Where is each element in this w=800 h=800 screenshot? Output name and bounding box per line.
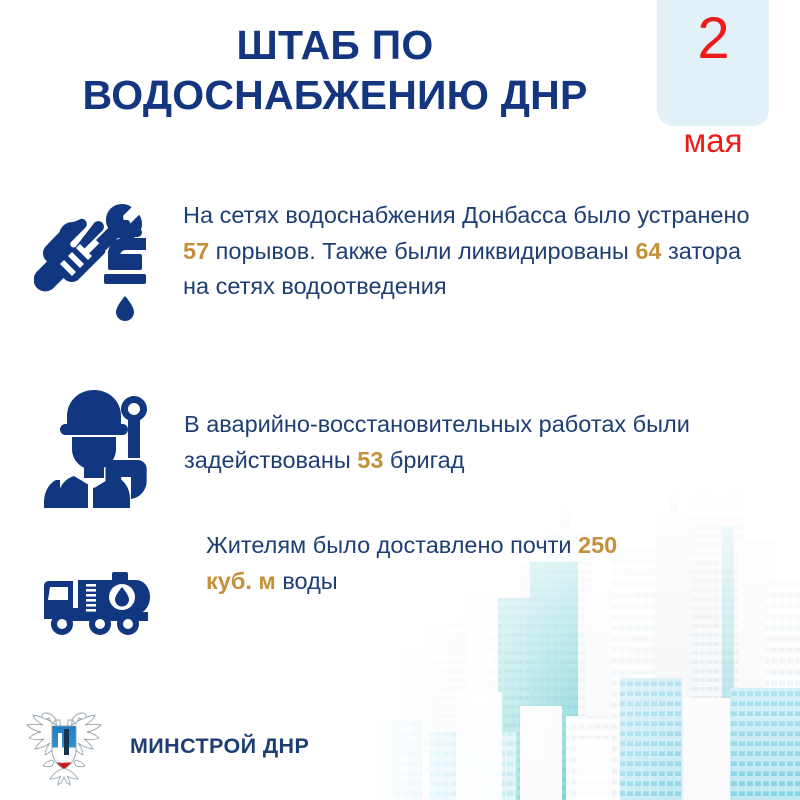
footer: МИНСТРОЙ ДНР <box>18 700 309 792</box>
highlight-value: 57 <box>183 238 209 264</box>
page-title-line-1: ШТАБ ПО <box>20 20 650 70</box>
stat-row-water-network-text: На сетях водоснабжения Донбасса было уст… <box>183 198 753 305</box>
body-text: порывов. Также были ликвидированы <box>209 238 635 264</box>
body-text: воды <box>276 568 338 594</box>
stat-row-repair-brigades: В аварийно-восстановительных работах был… <box>38 382 754 508</box>
highlight-value: 53 <box>357 447 383 473</box>
body-text: На сетях водоснабжения Донбасса было уст… <box>183 202 750 228</box>
date-month: мая <box>657 124 769 157</box>
water-tanker-truck-icon <box>38 556 156 642</box>
hand-wrench-faucet-icon <box>34 196 156 328</box>
highlight-value: 64 <box>635 238 661 264</box>
body-text: бригад <box>383 447 464 473</box>
stat-row-repair-brigades-text: В аварийно-восстановительных работах был… <box>184 407 754 478</box>
date-day: 2 <box>657 10 769 68</box>
page-title-line-2: ВОДОСНАБЖЕНИЮ ДНР <box>20 70 650 120</box>
dnr-double-headed-eagle-emblem <box>18 700 110 792</box>
worker-helmet-wrench-icon <box>38 382 156 508</box>
stat-row-water-delivered: Жителям было доставлено почти 250 куб. м… <box>38 556 626 642</box>
page-title: ШТАБ ПО ВОДОСНАБЖЕНИЮ ДНР <box>20 20 650 120</box>
footer-label: МИНСТРОЙ ДНР <box>130 734 309 759</box>
stat-row-water-delivered-text: Жителям было доставлено почти 250 куб. м… <box>206 528 626 599</box>
body-text: Жителям было доставлено почти <box>206 532 578 558</box>
stat-row-water-network: На сетях водоснабжения Донбасса было уст… <box>34 196 753 328</box>
